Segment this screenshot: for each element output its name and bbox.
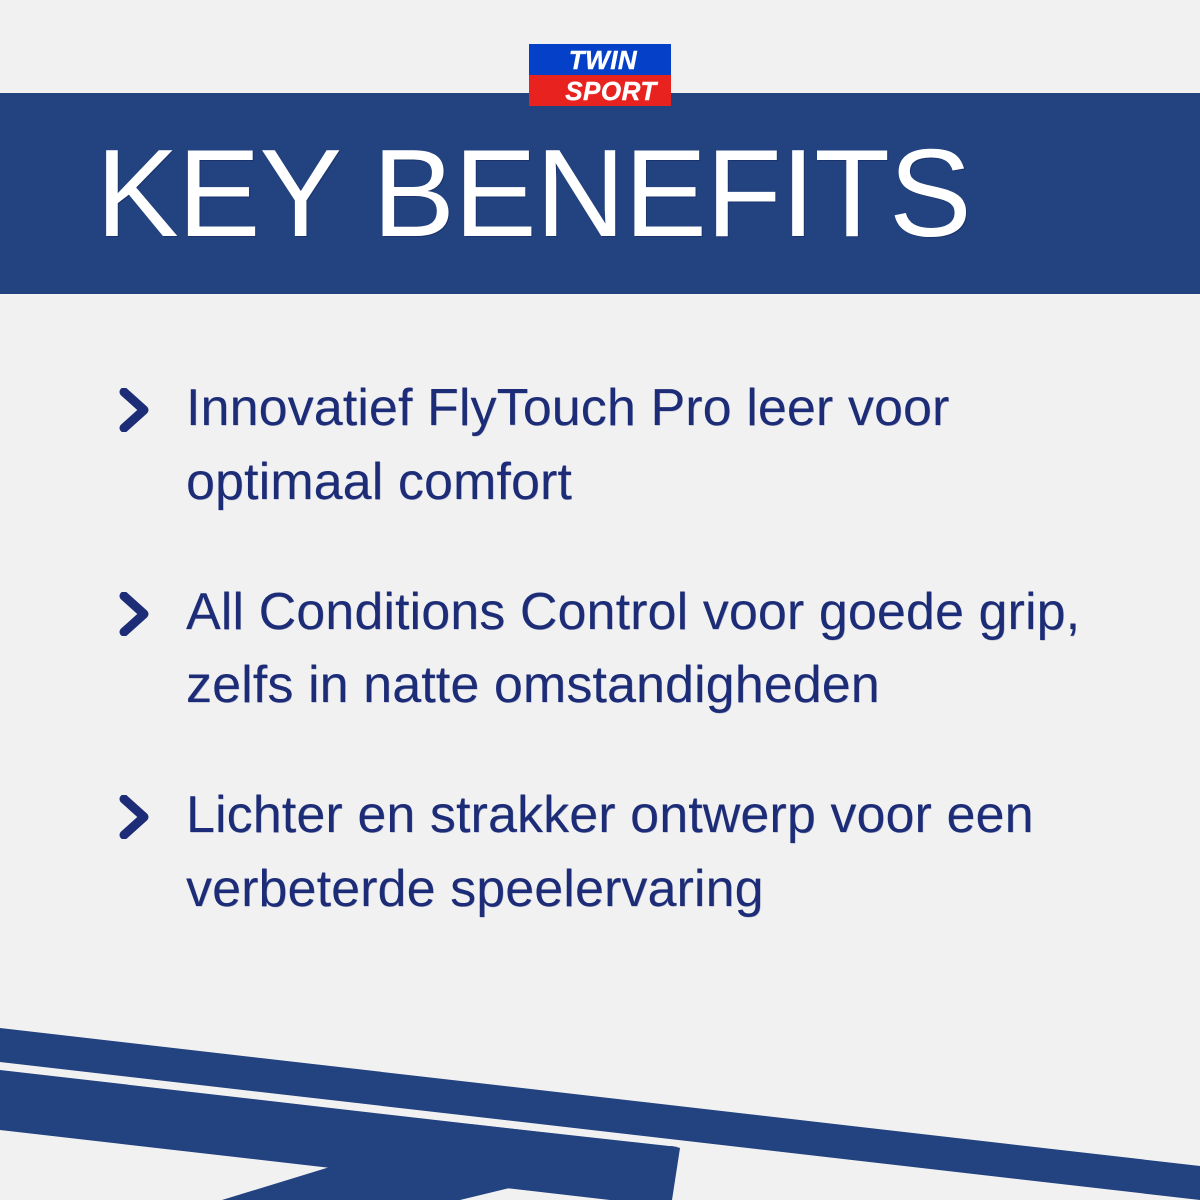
chevron-right-icon (118, 388, 152, 432)
page-title: KEY BENEFITS (0, 132, 971, 256)
list-item: Lichter en strakker ontwerp voor een ver… (0, 779, 1200, 927)
logo-sport-block: SPORT (529, 75, 671, 106)
list-item: Innovatief FlyTouch Pro leer voor optima… (0, 372, 1200, 520)
logo-twin-text: TWIN (569, 47, 637, 73)
benefit-text: Innovatief FlyTouch Pro leer voor optima… (186, 372, 1140, 520)
header-band: KEY BENEFITS (0, 93, 1200, 294)
chevron-right-icon (118, 592, 152, 636)
benefit-text: All Conditions Control voor goede grip, … (186, 576, 1140, 724)
list-item: All Conditions Control voor goede grip, … (0, 576, 1200, 724)
chevron-right-icon (118, 795, 152, 839)
benefit-text: Lichter en strakker ontwerp voor een ver… (186, 779, 1140, 927)
logo-twin-block: TWIN (529, 44, 671, 75)
chevron-stripes-graphic (0, 1000, 1200, 1200)
benefits-list: Innovatief FlyTouch Pro leer voor optima… (0, 372, 1200, 983)
brand-logo: TWIN SPORT (0, 44, 1200, 106)
logo-sport-text: SPORT (565, 78, 657, 104)
